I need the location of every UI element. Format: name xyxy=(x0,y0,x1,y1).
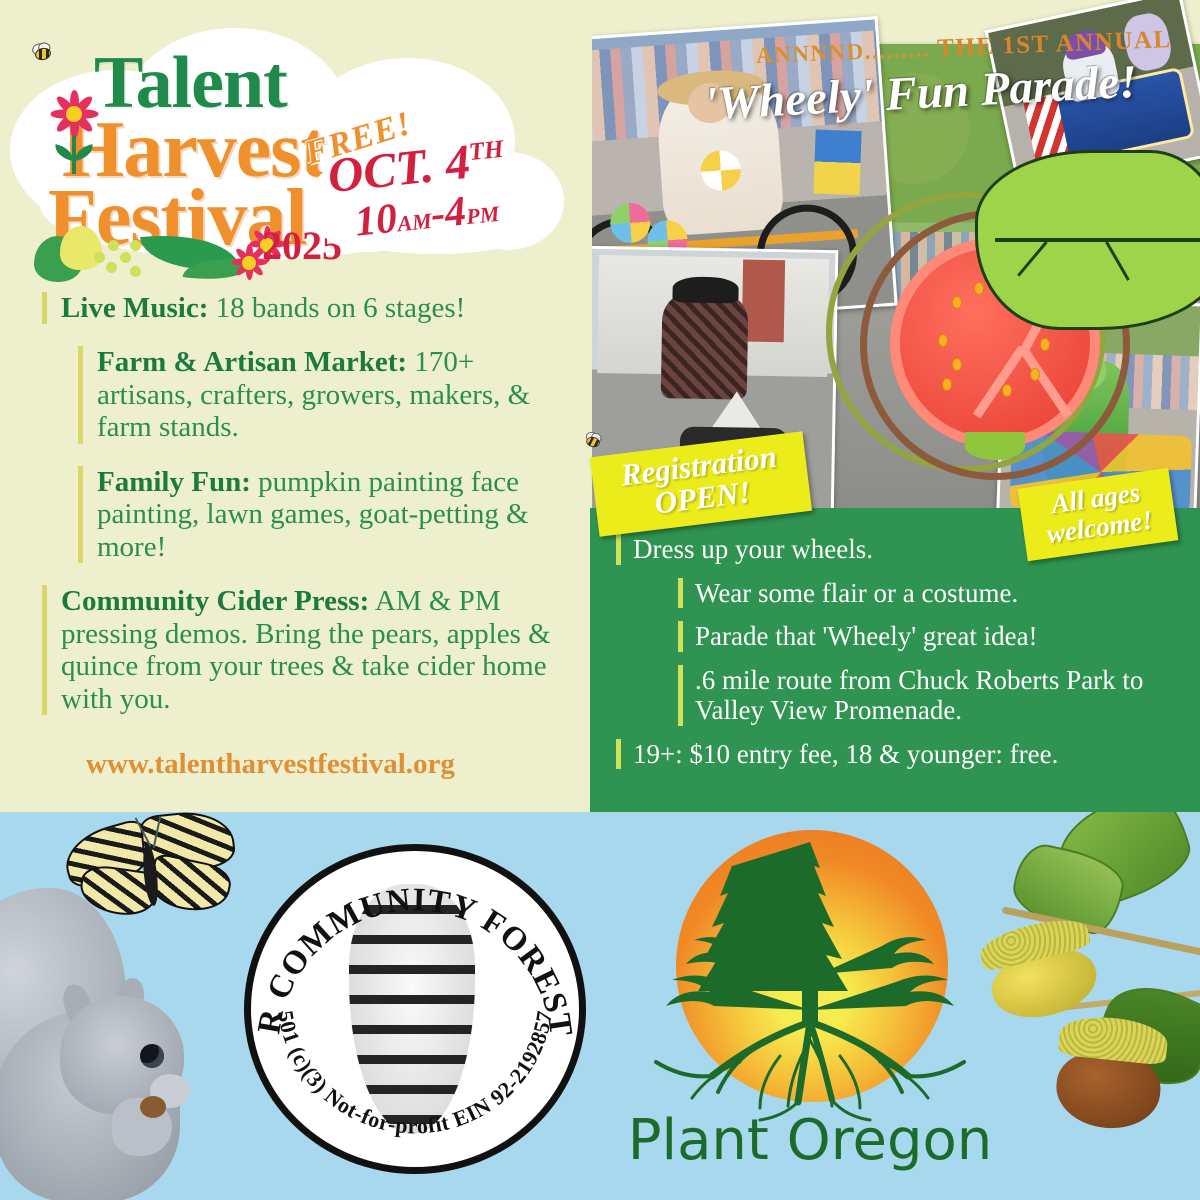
parade-bullet-entry-fee: 19+: $10 entry fee, 18 & younger: free. xyxy=(616,739,1180,770)
nut-icon xyxy=(140,1096,166,1118)
float-stem-leaf xyxy=(965,432,1025,460)
plant-oregon-wordmark: Plant Oregon xyxy=(620,1108,1000,1173)
fruit-seed xyxy=(1002,384,1012,397)
info-title: Family Fun: xyxy=(97,466,251,498)
our-community-forestry-logo: OUR COMMUNITY FORESTRY 501 (c)(3) Not-fo… xyxy=(244,844,586,1174)
info-title: Community Cider Press: xyxy=(61,585,369,617)
grape-icon xyxy=(108,240,119,251)
balloon-decoration xyxy=(1120,10,1175,74)
squirrel-photo xyxy=(0,884,214,1200)
parade-bullet-flair: Wear some flair or a costume. xyxy=(678,578,1180,609)
parade-photo-collage xyxy=(530,0,1200,516)
acorns-and-oak-leaves xyxy=(980,802,1200,1198)
fruit-seed xyxy=(1030,368,1040,381)
fruit-seed xyxy=(1040,338,1050,351)
plant-oregon-logo: Plant Oregon xyxy=(620,826,1000,1176)
parade-bullet-route: .6 mile route from Chuck Roberts Park to… xyxy=(678,665,1180,726)
parade-bullet-list: Dress up your wheels. Wear some flair or… xyxy=(616,534,1180,782)
parade-details-panel: Dress up your wheels. Wear some flair or… xyxy=(590,508,1200,812)
time-end-suffix: PM xyxy=(465,201,500,229)
rider-figure xyxy=(661,294,749,399)
info-title: Farm & Artisan Market: xyxy=(97,346,407,378)
date-badge: FREE! OCT. 4TH 10AM-4PM xyxy=(300,118,568,258)
tree-with-roots-icon xyxy=(620,826,1000,1126)
butterfly-icon xyxy=(58,806,238,926)
grape-icon xyxy=(106,262,117,273)
street-banner xyxy=(742,260,785,343)
time-end: 4 xyxy=(442,188,468,236)
fedora-hat xyxy=(672,276,738,303)
seal-text-svg: OUR COMMUNITY FORESTRY 501 (c)(3) Not-fo… xyxy=(244,844,586,1174)
time-start: 10 xyxy=(353,196,400,246)
flower-center xyxy=(64,104,84,124)
pear-icon xyxy=(60,226,102,270)
fruit-seed xyxy=(952,358,962,371)
squirrel-eye xyxy=(140,1044,164,1068)
date-text: OCT. 4TH 10AM-4PM xyxy=(326,133,512,246)
festival-info-column: Talent Harvest Festival xyxy=(0,0,592,812)
info-body: 18 bands on 6 stages! xyxy=(208,292,465,324)
leaf-vein xyxy=(995,238,1200,242)
info-item-family-fun: Family Fun: pumpkin painting face painti… xyxy=(78,466,562,563)
acorn-icon xyxy=(977,912,1106,1028)
grape-icon xyxy=(94,252,105,263)
website-link[interactable]: www.talentharvestfestival.org xyxy=(86,748,455,781)
flower-leaf xyxy=(73,144,95,161)
grape-icon xyxy=(120,252,131,263)
fruit-seed xyxy=(938,334,948,347)
fruit-seed xyxy=(942,378,952,391)
sponsor-band: OUR COMMUNITY FORESTRY 501 (c)(3) Not-fo… xyxy=(0,812,1200,1200)
acorn-icon xyxy=(1051,1013,1170,1134)
poster-top-card: ANNNND......... THE 1ST ANNUAL 'Wheely' … xyxy=(0,0,1200,812)
grape-icon xyxy=(130,240,141,251)
info-item-cider-press: Community Cider Press: AM & PM pressing … xyxy=(42,585,562,715)
flag-decoration xyxy=(813,130,861,196)
flower-icon xyxy=(48,88,104,174)
seal-bottom-textpath: 501 (c)(3) Not-for-profit EIN 92-2192857 xyxy=(273,1009,557,1139)
green-leaf-float-cutout xyxy=(975,150,1200,330)
festival-info-list: Live Music: 18 bands on 6 stages! Farm &… xyxy=(42,292,562,737)
date-ordinal: TH xyxy=(468,136,505,166)
fruit-seed xyxy=(952,296,962,309)
grape-icon xyxy=(130,266,141,277)
fruit-segment xyxy=(973,345,1026,418)
info-title: Live Music: xyxy=(61,292,208,324)
parade-bullet-great-idea: Parade that 'Wheely' great idea! xyxy=(678,621,1180,652)
fruit-segment xyxy=(1019,345,1072,418)
time-start-suffix: AM xyxy=(396,208,433,236)
info-item-live-music: Live Music: 18 bands on 6 stages! xyxy=(42,292,562,324)
seal-bottom-text: 501 (c)(3) Not-for-profit EIN 92-2192857 xyxy=(273,1009,557,1139)
info-item-farm-market: Farm & Artisan Market: 170+ artisans, cr… xyxy=(78,346,562,443)
